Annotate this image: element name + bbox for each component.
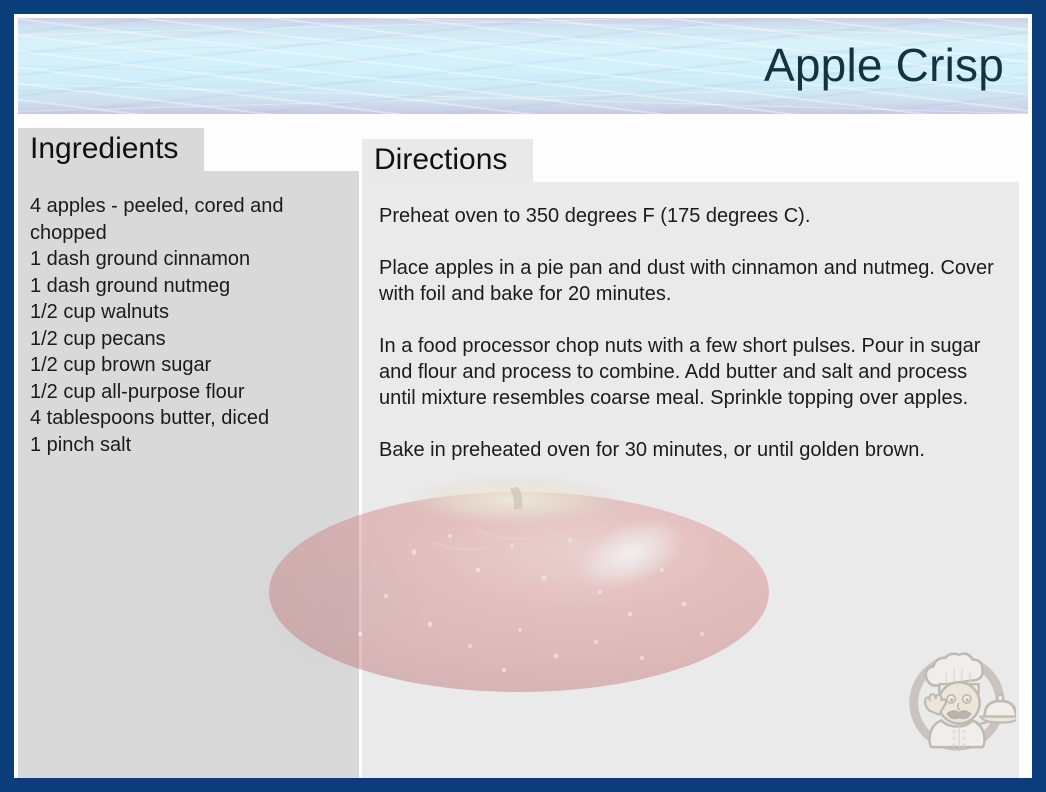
- list-item: 1/2 cup all-purpose flour: [30, 379, 345, 406]
- direction-step: In a food processor chop nuts with a few…: [379, 333, 1003, 411]
- slide-canvas: Apple Crisp Ingredients 4 apples - peele…: [14, 14, 1032, 778]
- ingredients-heading: Ingredients: [18, 128, 204, 171]
- list-item: 1 dash ground nutmeg: [30, 273, 345, 300]
- directions-heading: Directions: [362, 139, 533, 182]
- list-item: 1/2 cup walnuts: [30, 299, 345, 326]
- list-item: 4 tablespoons butter, diced: [30, 405, 345, 432]
- directions-panel: Preheat oven to 350 degrees F (175 degre…: [362, 182, 1019, 778]
- title-banner: Apple Crisp: [18, 18, 1028, 114]
- page-title: Apple Crisp: [764, 38, 1004, 92]
- ingredients-panel: 4 apples - peeled, cored and chopped 1 d…: [18, 171, 359, 778]
- direction-step: Preheat oven to 350 degrees F (175 degre…: [379, 203, 1003, 229]
- list-item: 1/2 cup brown sugar: [30, 352, 345, 379]
- direction-step: Place apples in a pie pan and dust with …: [379, 255, 1003, 307]
- list-item: 1 pinch salt: [30, 432, 345, 459]
- list-item: 4 apples - peeled, cored and chopped: [30, 193, 345, 246]
- list-item: 1/2 cup pecans: [30, 326, 345, 353]
- recipe-slide: Apple Crisp Ingredients 4 apples - peele…: [0, 0, 1046, 792]
- list-item: 1 dash ground cinnamon: [30, 246, 345, 273]
- direction-step: Bake in preheated oven for 30 minutes, o…: [379, 437, 1003, 463]
